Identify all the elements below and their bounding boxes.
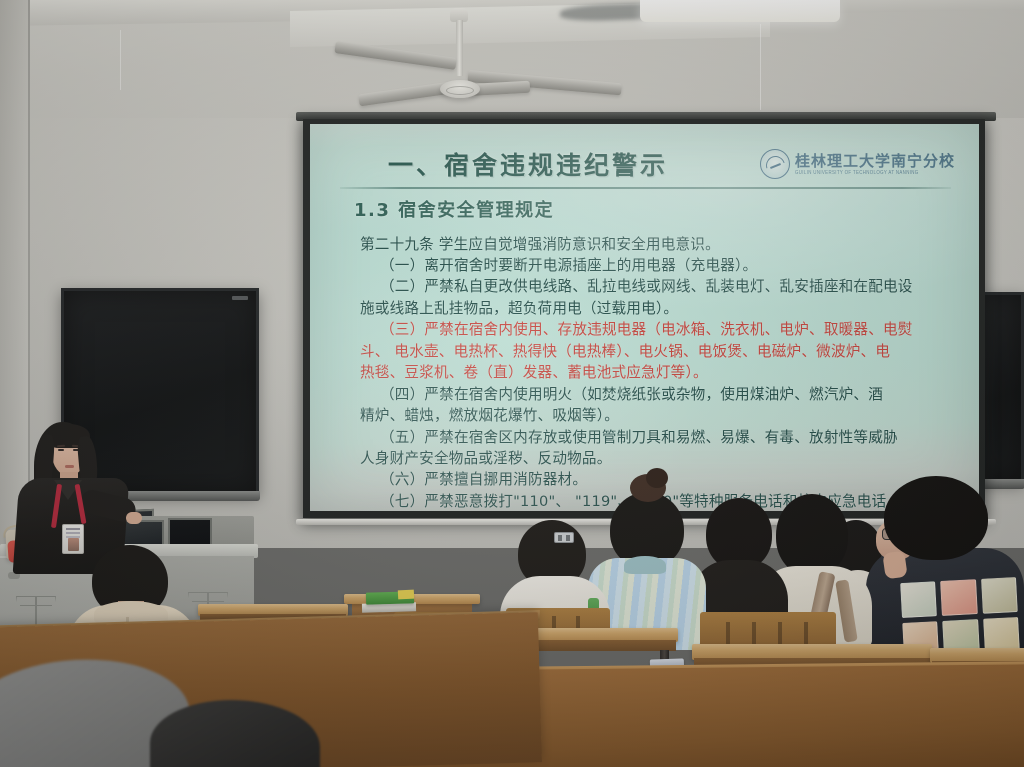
slide-title: 一、宿舍违规违纪警示: [388, 146, 668, 182]
university-logo-text: 桂林理工大学南宁分校 GUILIN UNIVERSITY OF TECHNOLO…: [795, 154, 955, 174]
slide-body-line: （二）严禁私自更改供电线路、乱拉电线或网线、乱装电灯、乱安插座和在配电设: [360, 276, 955, 297]
projection-screen: 一、宿舍违规违纪警示 桂林理工大学南宁分校 GUILIN UNIVERSITY …: [303, 119, 985, 518]
yellow-sticky-note: [398, 590, 414, 600]
slide-body-line: 人身财产安全物品或淫秽、反动物品。: [360, 448, 955, 469]
slide-body-line: 斗、 电水壶、电热杯、热得快（电热棒）、电火锅、电饭煲、电磁炉、微波炉、电: [360, 341, 955, 362]
hair-bun-top: [646, 468, 668, 488]
ceiling-panel-seam: [760, 24, 761, 110]
backpack-card: [940, 579, 977, 615]
student-collar: [624, 556, 666, 574]
slide-body-line: （四）严禁在宿舍内使用明火（如焚烧纸张或杂物，使用煤油炉、燃汽炉、酒: [360, 384, 955, 405]
slide-body-line: （五）严禁在宿舍区内存放或使用管制刀具和易燃、易爆、有毒、放射性等威胁: [360, 427, 955, 448]
ceiling-fan-hub-ring: [446, 86, 474, 95]
ceiling-light-panel: [640, 0, 840, 22]
ceiling-panel-seam: [120, 30, 121, 90]
ceiling-fan-rod: [456, 20, 463, 76]
presentation-slide: 一、宿舍违规违纪警示 桂林理工大学南宁分校 GUILIN UNIVERSITY …: [310, 124, 979, 511]
slide-body-line: （一）离开宿舍时要断开电源插座上的用电器（充电器）。: [360, 255, 955, 276]
backpack-card: [981, 577, 1018, 613]
slide-header: 一、宿舍违规违纪警示 桂林理工大学南宁分校 GUILIN UNIVERSITY …: [336, 146, 955, 182]
hair-clip: [554, 532, 574, 543]
student-hand: [882, 551, 907, 580]
teacher-mouth: [65, 465, 74, 468]
student-head: [884, 476, 988, 560]
slide-body-line: 精炉、蜡烛，燃放烟花爆竹、吸烟等）。: [360, 405, 955, 426]
backpack-card: [900, 581, 937, 617]
title-divider: [340, 187, 951, 189]
teacher-hand: [126, 512, 142, 524]
slide-body-line: 第二十九条 学生应自觉增强消防意识和安全用电意识。: [360, 234, 955, 255]
slide-body-line: 施或线路上乱挂物品，超负荷用电（过载用电）。: [360, 298, 955, 319]
classroom-photo: 一、宿舍违规违纪警示 桂林理工大学南宁分校 GUILIN UNIVERSITY …: [0, 0, 1024, 767]
university-logo: 桂林理工大学南宁分校 GUILIN UNIVERSITY OF TECHNOLO…: [760, 149, 955, 179]
display-brand-mark: [232, 296, 248, 300]
slide-body-line: （三）严禁在宿舍内使用、存放违规电器（电冰箱、洗衣机、电炉、取暖器、电熨: [360, 319, 955, 340]
student-backpack-cards: [858, 476, 1024, 666]
slide-body-line: 热毯、豆浆机、卷（直）发器、蓄电池式应急灯等）。: [360, 362, 955, 383]
university-name-en: GUILIN UNIVERSITY OF TECHNOLOGY AT NANNI…: [795, 170, 955, 176]
university-name-cn: 桂林理工大学南宁分校: [795, 154, 955, 170]
university-seal-icon: [760, 149, 790, 179]
screen-surface: 一、宿舍违规违纪警示 桂林理工大学南宁分校 GUILIN UNIVERSITY …: [310, 124, 979, 511]
slide-subtitle: 1.3 宿舍安全管理规定: [354, 196, 955, 222]
